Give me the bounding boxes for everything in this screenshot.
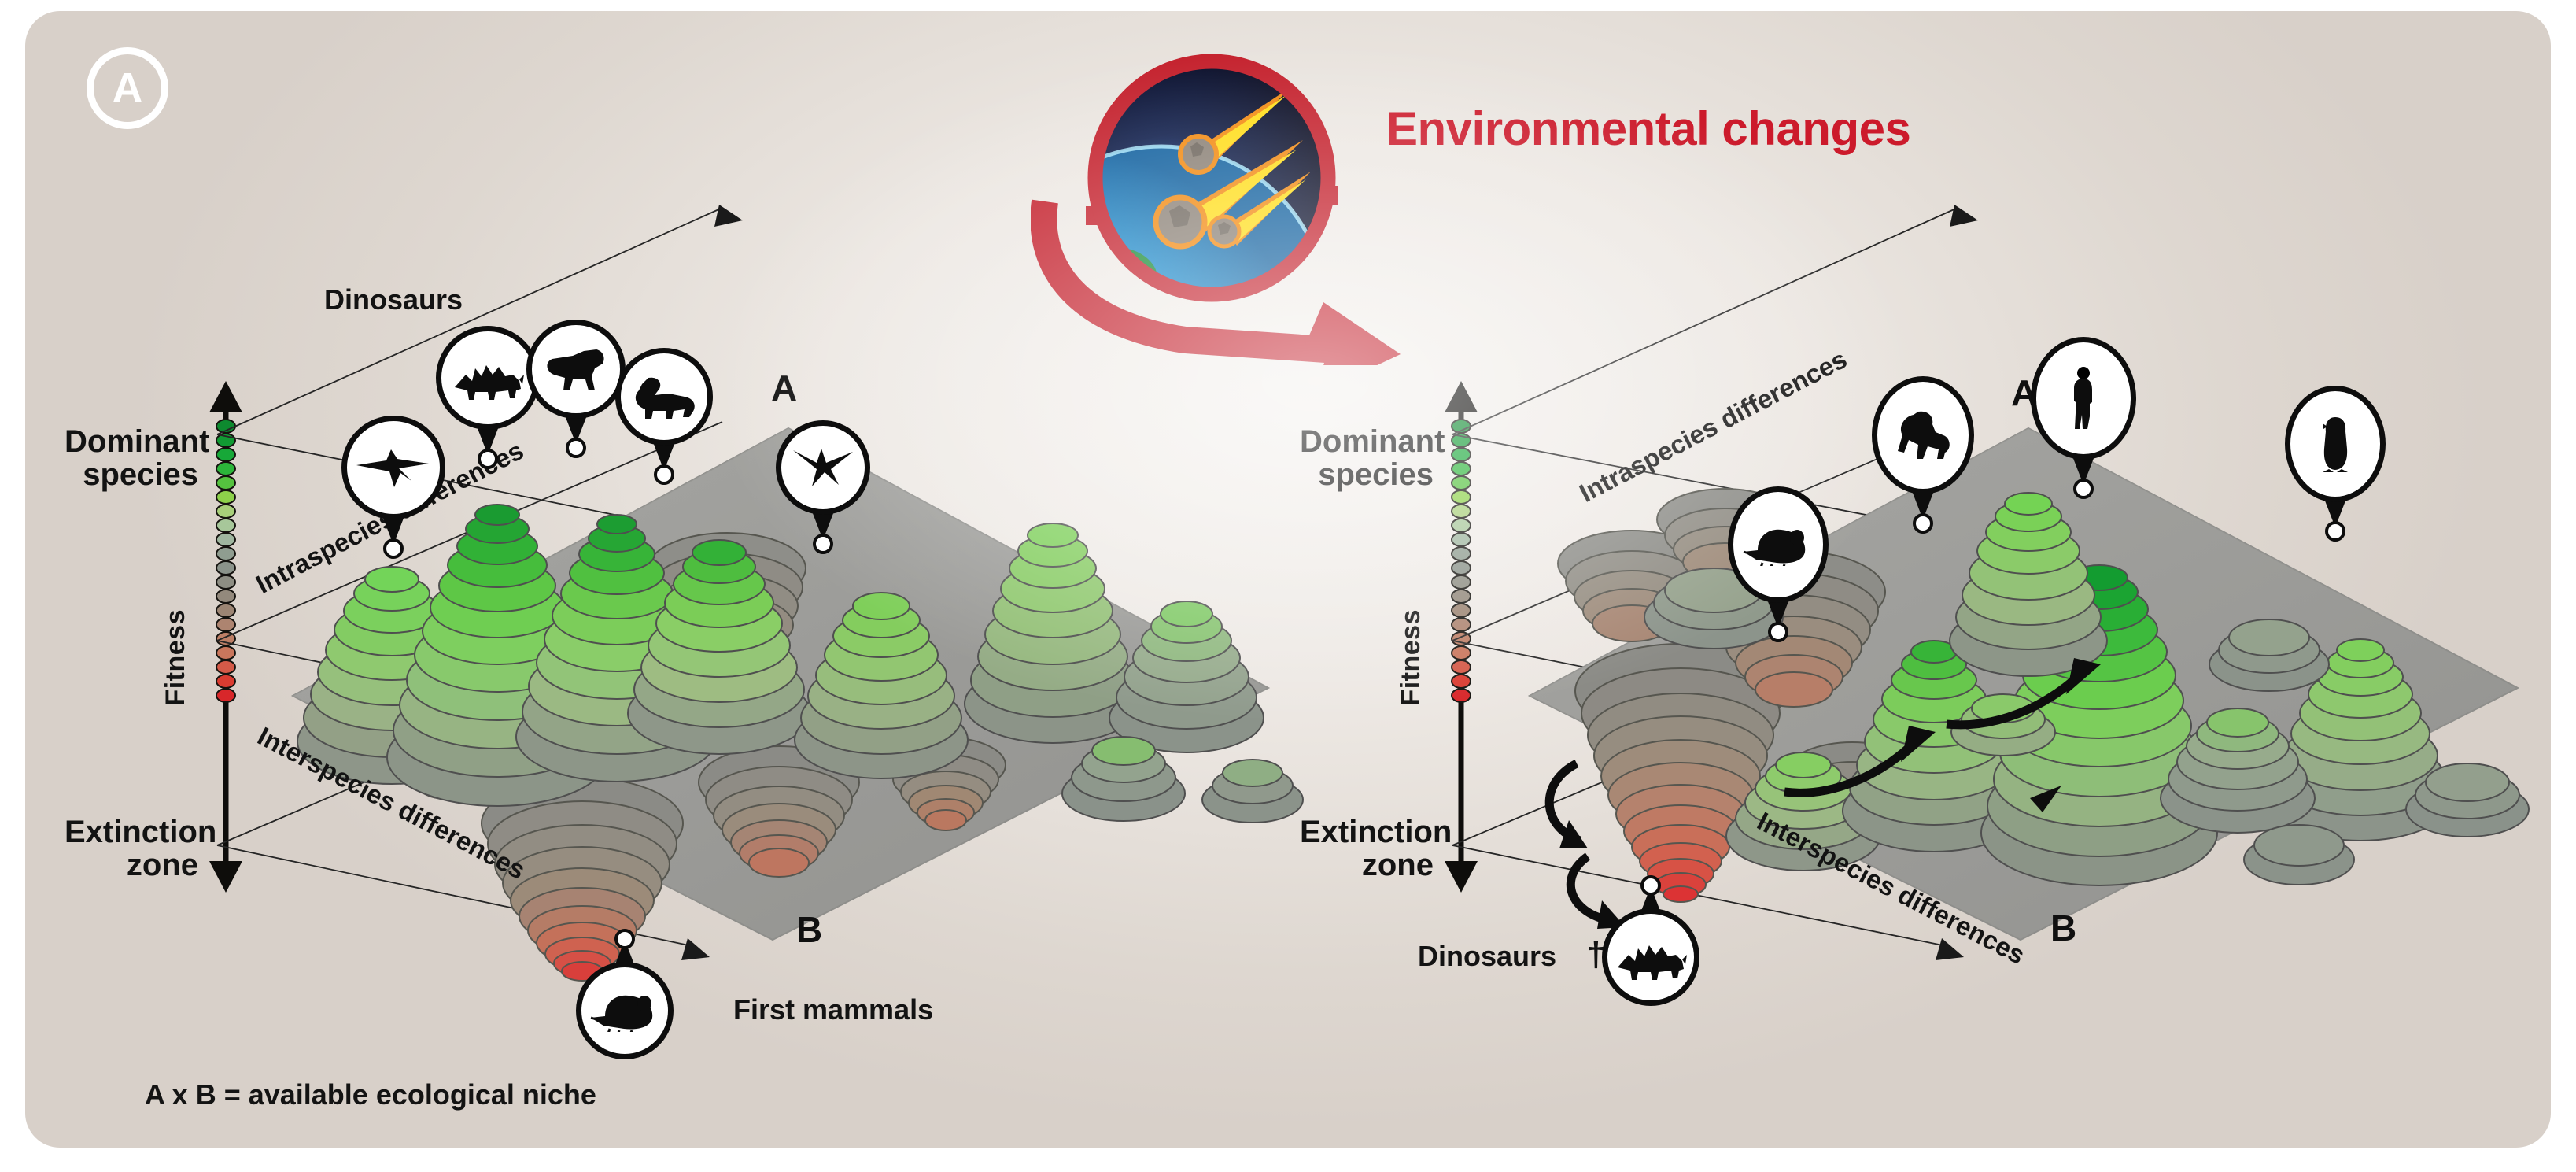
axis-label-fitness-right: Fitness [1396, 609, 1426, 706]
figure-card: A [25, 11, 2551, 1148]
axis-label-fitness-left: Fitness [161, 609, 191, 706]
environmental-changes-title: Environmental changes [1386, 104, 1910, 154]
niche-axis-a-left: A [771, 367, 797, 409]
figure-footnote: A x B = available ecological niche [145, 1080, 596, 1110]
brontosaurus-icon [628, 373, 700, 420]
mouse-icon [1742, 523, 1814, 566]
axis-label-extinction-zone-right: Extinction zone [1300, 815, 1434, 882]
dinosaurs-label-left: Dinosaurs [324, 285, 463, 315]
first-mammals-label: First mammals [733, 995, 933, 1025]
figure-canvas: A [0, 0, 2576, 1172]
panel-label-text: A [113, 64, 143, 113]
ape-icon [1891, 409, 1954, 462]
axis-label-extinction-zone-left: Extinction zone [65, 815, 198, 882]
pterodactyl-icon [355, 445, 432, 490]
extinct-dinosaurs-label: Dinosaurs † [1418, 937, 1606, 974]
stegosaurus-icon [452, 354, 524, 401]
extinct-dinosaurs-label-text: Dinosaurs [1418, 940, 1556, 972]
stegosaurus-icon [1615, 934, 1687, 980]
axis-label-dominant-species-right: Dominant species [1300, 425, 1434, 492]
panel-label-badge: A [87, 47, 168, 129]
penguin-icon [2320, 414, 2351, 474]
hadrosaur-icon [541, 345, 611, 394]
niche-axis-b-right: B [2050, 907, 2076, 949]
niche-axis-b-left: B [796, 908, 822, 951]
pterosaur-icon [790, 446, 856, 490]
axis-label-dominant-species-left: Dominant species [65, 425, 198, 492]
fitness-peaks-left [238, 247, 1308, 956]
mouse-icon [589, 989, 660, 1032]
human-icon [2066, 366, 2101, 431]
